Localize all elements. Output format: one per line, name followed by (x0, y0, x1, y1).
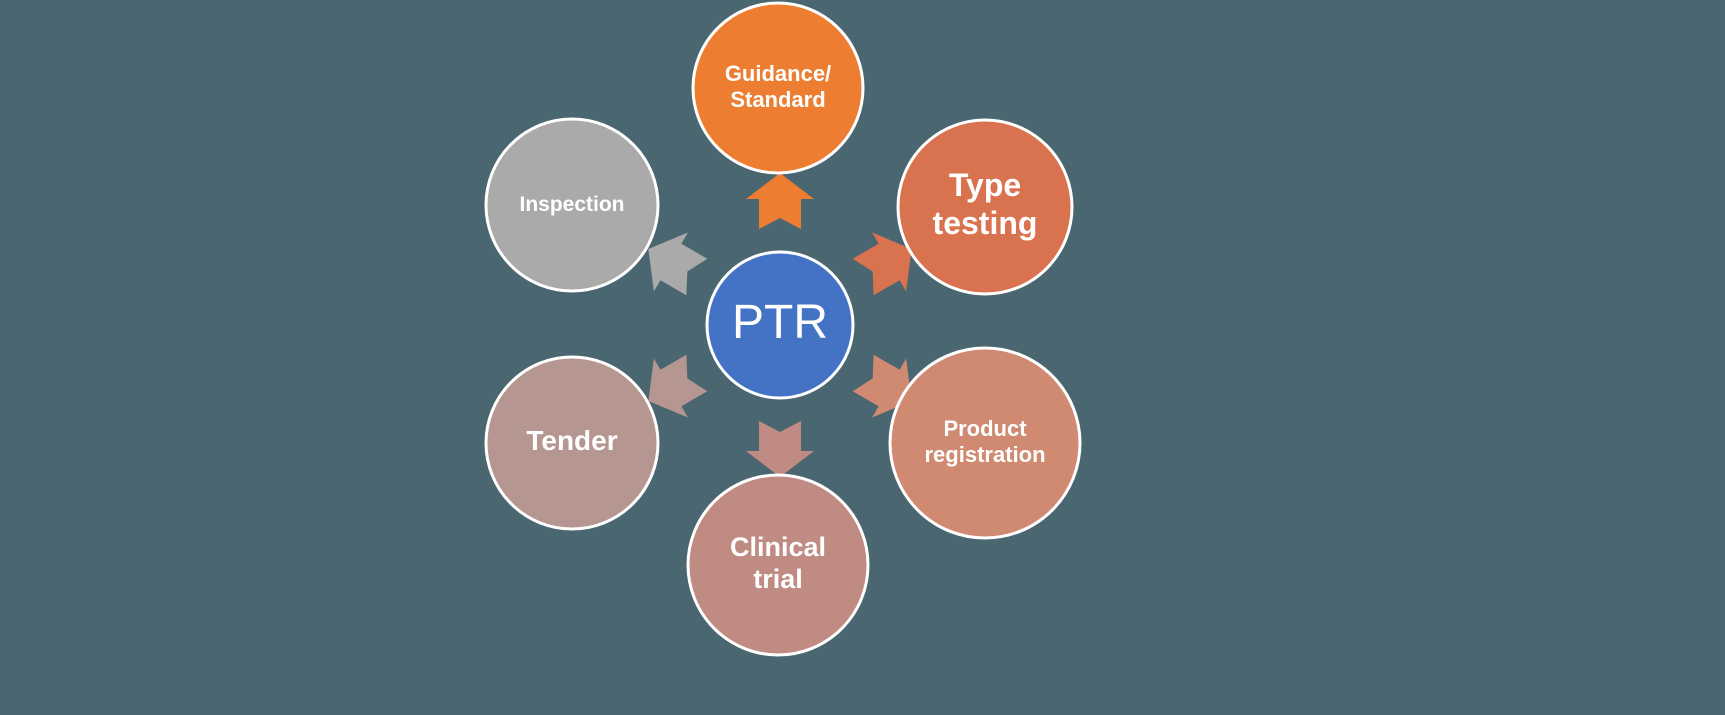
radial-diagram: Guidance/StandardTypetestingProductregis… (0, 0, 1725, 715)
arrow-to-guidance-standard (746, 173, 814, 229)
node-tender-label: Tender (526, 425, 617, 456)
arrow-to-tender-shape (648, 355, 707, 418)
node-product-registration-label-line: registration (924, 442, 1045, 467)
arrow-to-type-testing (853, 233, 912, 296)
arrow-to-inspection (648, 233, 707, 296)
node-clinical-trial[interactable]: Clinicaltrial (688, 475, 868, 655)
node-tender-label-line: Tender (526, 425, 617, 456)
node-type-testing-label-line: testing (933, 205, 1038, 241)
node-guidance-standard-label-line: Guidance/ (725, 61, 831, 86)
node-product-registration-label-line: Product (943, 416, 1027, 441)
node-ptr-label: PTR (732, 296, 828, 349)
node-type-testing[interactable]: Typetesting (898, 120, 1072, 294)
diagram-canvas: Guidance/StandardTypetestingProductregis… (0, 0, 1725, 715)
center-node-layer: PTR (707, 252, 853, 398)
node-ptr[interactable]: PTR (707, 252, 853, 398)
arrow-to-guidance-standard-shape (746, 173, 814, 229)
arrow-to-type-testing-shape (853, 233, 912, 296)
node-tender[interactable]: Tender (486, 357, 658, 529)
node-ptr-label-line: PTR (732, 296, 828, 349)
node-inspection-label-line: Inspection (519, 193, 624, 216)
node-inspection[interactable]: Inspection (486, 119, 658, 291)
arrow-to-clinical-trial (746, 421, 814, 477)
node-clinical-trial-label-line: trial (753, 564, 803, 594)
node-guidance-standard[interactable]: Guidance/Standard (693, 3, 863, 173)
arrow-to-clinical-trial-shape (746, 421, 814, 477)
node-guidance-standard-label: Guidance/Standard (725, 61, 831, 112)
node-type-testing-label-line: Type (949, 168, 1021, 204)
node-inspection-label: Inspection (519, 193, 624, 216)
node-guidance-standard-label-line: Standard (730, 87, 825, 112)
arrow-to-inspection-shape (648, 233, 707, 296)
arrow-to-tender (648, 355, 707, 418)
node-product-registration[interactable]: Productregistration (890, 348, 1080, 538)
node-clinical-trial-label-line: Clinical (730, 532, 826, 562)
